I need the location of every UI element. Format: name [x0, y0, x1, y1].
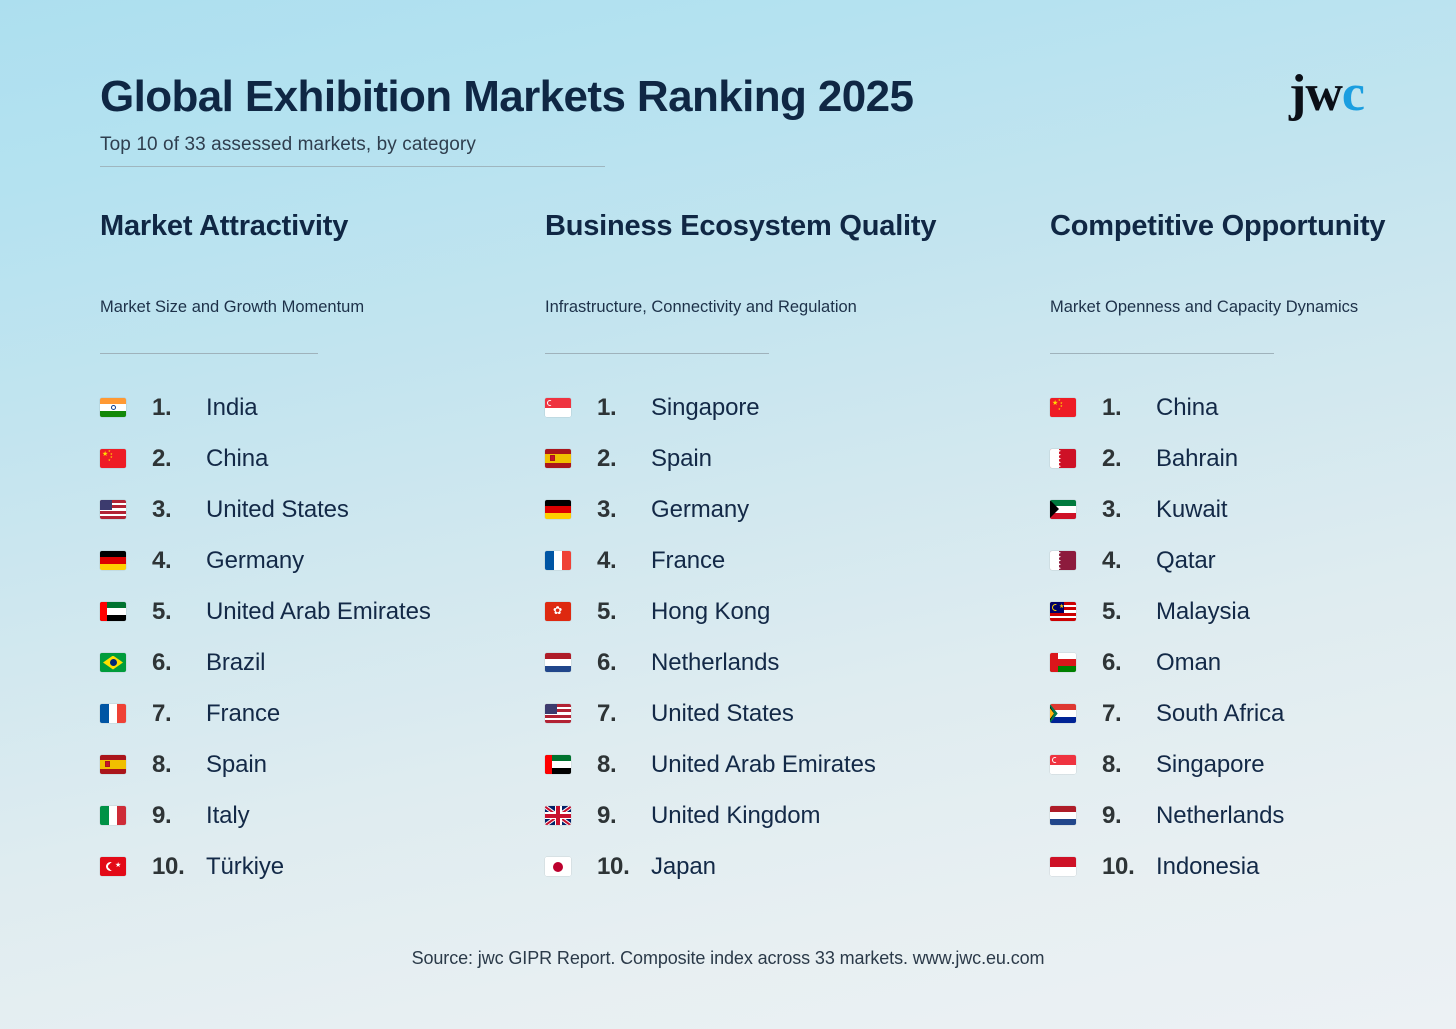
page-subtitle: Top 10 of 33 assessed markets, by catego… [100, 134, 1356, 156]
rank-number: 1. [597, 394, 651, 422]
market-name: Italy [206, 802, 250, 830]
list-item[interactable]: 5.United Arab Emirates [100, 586, 545, 637]
list-item[interactable]: ★★★★★1.China [1050, 382, 1450, 433]
flag-netherlands-icon [1050, 806, 1076, 825]
market-name: Oman [1156, 649, 1221, 677]
rank-number: 7. [1102, 700, 1156, 728]
market-name: Netherlands [651, 649, 779, 677]
rank-number: 10. [597, 853, 651, 881]
page-title: Global Exhibition Markets Ranking 2025 [100, 72, 1356, 121]
rank-number: 8. [152, 751, 206, 779]
market-name: South Africa [1156, 700, 1284, 728]
column-title: Market Attractivity [100, 208, 545, 284]
list-item[interactable]: 2.Bahrain [1050, 433, 1450, 484]
rank-list-1: 1.India★★★★★2.China3.United States4.Germ… [100, 382, 545, 892]
header: Global Exhibition Markets Ranking 2025 T… [100, 72, 1356, 167]
market-name: Hong Kong [651, 598, 770, 626]
column-business-ecosystem-quality: Business Ecosystem Quality Infrastructur… [545, 208, 1050, 892]
logo-text-dark: jw [1289, 65, 1342, 122]
list-item[interactable]: ★★★★★2.China [100, 433, 545, 484]
flag-japan-icon [545, 857, 571, 876]
list-item[interactable]: 7.France [100, 688, 545, 739]
list-item[interactable]: 7.South Africa [1050, 688, 1450, 739]
rank-number: 6. [597, 649, 651, 677]
rank-number: 10. [152, 853, 206, 881]
flag-france-icon [100, 704, 126, 723]
market-name: Germany [206, 547, 304, 575]
list-item[interactable]: 9.United Kingdom [545, 790, 1050, 841]
market-name: France [206, 700, 280, 728]
rank-number: 2. [597, 445, 651, 473]
market-name: Qatar [1156, 547, 1216, 575]
list-item[interactable]: 4.Germany [100, 535, 545, 586]
flag-italy-icon [100, 806, 126, 825]
column-market-attractivity: Market Attractivity Market Size and Grow… [100, 208, 545, 892]
market-name: Netherlands [1156, 802, 1284, 830]
rank-number: 5. [1102, 598, 1156, 626]
list-item[interactable]: 1.India [100, 382, 545, 433]
rank-list-2: 1.Singapore2.Spain3.Germany4.France✿5.Ho… [545, 382, 1050, 892]
market-name: United Kingdom [651, 802, 820, 830]
market-name: United Arab Emirates [206, 598, 431, 626]
market-name: China [1156, 394, 1218, 422]
column-competitive-opportunity: Competitive Opportunity Market Openness … [1050, 208, 1450, 892]
flag-kuwait-icon [1050, 500, 1076, 519]
list-item[interactable]: 10.Indonesia [1050, 841, 1450, 892]
flag-brazil-icon [100, 653, 126, 672]
list-item[interactable]: 6.Netherlands [545, 637, 1050, 688]
column-divider [100, 353, 318, 354]
market-name: United States [651, 700, 794, 728]
list-item[interactable]: ★5.Malaysia [1050, 586, 1450, 637]
list-item[interactable]: 1.Singapore [545, 382, 1050, 433]
flag-united-kingdom-icon [545, 806, 571, 825]
column-title: Business Ecosystem Quality [545, 208, 1050, 284]
list-item[interactable]: 6.Oman [1050, 637, 1450, 688]
rank-number: 10. [1102, 853, 1156, 881]
rank-number: 4. [1102, 547, 1156, 575]
rank-list-3: ★★★★★1.China2.Bahrain3.Kuwait4.Qatar★5.M… [1050, 382, 1450, 892]
rank-number: 8. [597, 751, 651, 779]
source-note: Source: jwc GIPR Report. Composite index… [0, 948, 1456, 969]
rank-number: 2. [152, 445, 206, 473]
flag-china-icon: ★★★★★ [1050, 398, 1076, 417]
logo-text-accent: c [1342, 65, 1364, 122]
flag-spain-icon [545, 449, 571, 468]
list-item[interactable]: 6.Brazil [100, 637, 545, 688]
flag-hong-kong-icon: ✿ [545, 602, 571, 621]
market-name: Spain [651, 445, 712, 473]
column-subtitle: Market Openness and Capacity Dynamics [1050, 296, 1450, 344]
rank-number: 1. [1102, 394, 1156, 422]
flag-netherlands-icon [545, 653, 571, 672]
rank-number: 3. [1102, 496, 1156, 524]
rank-number: 2. [1102, 445, 1156, 473]
market-name: United Arab Emirates [651, 751, 876, 779]
rank-number: 5. [597, 598, 651, 626]
list-item[interactable]: 9.Netherlands [1050, 790, 1450, 841]
list-item[interactable]: 7.United States [545, 688, 1050, 739]
list-item[interactable]: 3.Kuwait [1050, 484, 1450, 535]
column-title: Competitive Opportunity [1050, 208, 1450, 284]
rank-number: 4. [597, 547, 651, 575]
flag-bahrain-icon [1050, 449, 1076, 468]
flag-united-states-icon [545, 704, 571, 723]
market-name: Germany [651, 496, 749, 524]
rank-number: 9. [152, 802, 206, 830]
list-item[interactable]: 8.Spain [100, 739, 545, 790]
subtitle-divider [100, 166, 605, 167]
market-name: Bahrain [1156, 445, 1238, 473]
flag-uae-icon [100, 602, 126, 621]
jwc-logo: jwc [1289, 68, 1364, 120]
flag-germany-icon [545, 500, 571, 519]
flag-oman-icon [1050, 653, 1076, 672]
column-divider [545, 353, 769, 354]
market-name: Japan [651, 853, 716, 881]
rank-number: 5. [152, 598, 206, 626]
rank-number: 3. [152, 496, 206, 524]
market-name: China [206, 445, 268, 473]
rank-number: 9. [1102, 802, 1156, 830]
infographic-page: Global Exhibition Markets Ranking 2025 T… [0, 0, 1456, 1029]
market-name: India [206, 394, 258, 422]
list-item[interactable]: 2.Spain [545, 433, 1050, 484]
rank-number: 7. [597, 700, 651, 728]
flag-malaysia-icon: ★ [1050, 602, 1076, 621]
market-name: Türkiye [206, 853, 284, 881]
market-name: Brazil [206, 649, 265, 677]
market-name: France [651, 547, 725, 575]
rank-number: 4. [152, 547, 206, 575]
market-name: Malaysia [1156, 598, 1250, 626]
flag-france-icon [545, 551, 571, 570]
flag-qatar-icon [1050, 551, 1076, 570]
flag-singapore-icon [545, 398, 571, 417]
market-name: Indonesia [1156, 853, 1259, 881]
rank-number: 1. [152, 394, 206, 422]
list-item[interactable]: 3.United States [100, 484, 545, 535]
list-item[interactable]: 3.Germany [545, 484, 1050, 535]
column-subtitle: Infrastructure, Connectivity and Regulat… [545, 296, 1050, 344]
list-item[interactable]: 4.France [545, 535, 1050, 586]
rank-number: 3. [597, 496, 651, 524]
rank-number: 9. [597, 802, 651, 830]
market-name: Singapore [651, 394, 760, 422]
ranking-columns: Market Attractivity Market Size and Grow… [0, 208, 1456, 892]
flag-united-states-icon [100, 500, 126, 519]
rank-number: 6. [152, 649, 206, 677]
list-item[interactable]: ✿5.Hong Kong [545, 586, 1050, 637]
list-item[interactable]: 9.Italy [100, 790, 545, 841]
market-name: Spain [206, 751, 267, 779]
rank-number: 7. [152, 700, 206, 728]
flag-singapore-icon [1050, 755, 1076, 774]
flag-south-africa-icon [1050, 704, 1076, 723]
column-subtitle: Market Size and Growth Momentum [100, 296, 545, 344]
flag-uae-icon [545, 755, 571, 774]
market-name: Singapore [1156, 751, 1265, 779]
column-divider [1050, 353, 1274, 354]
list-item[interactable]: 4.Qatar [1050, 535, 1450, 586]
market-name: Kuwait [1156, 496, 1227, 524]
list-item[interactable]: 8.United Arab Emirates [545, 739, 1050, 790]
flag-china-icon: ★★★★★ [100, 449, 126, 468]
flag-spain-icon [100, 755, 126, 774]
list-item[interactable]: 10.Japan [545, 841, 1050, 892]
rank-number: 6. [1102, 649, 1156, 677]
flag-india-icon [100, 398, 126, 417]
rank-number: 8. [1102, 751, 1156, 779]
list-item[interactable]: 8.Singapore [1050, 739, 1450, 790]
flag-indonesia-icon [1050, 857, 1076, 876]
flag-turkiye-icon: ★ [100, 857, 126, 876]
list-item[interactable]: ★10.Türkiye [100, 841, 545, 892]
market-name: United States [206, 496, 349, 524]
flag-germany-icon [100, 551, 126, 570]
